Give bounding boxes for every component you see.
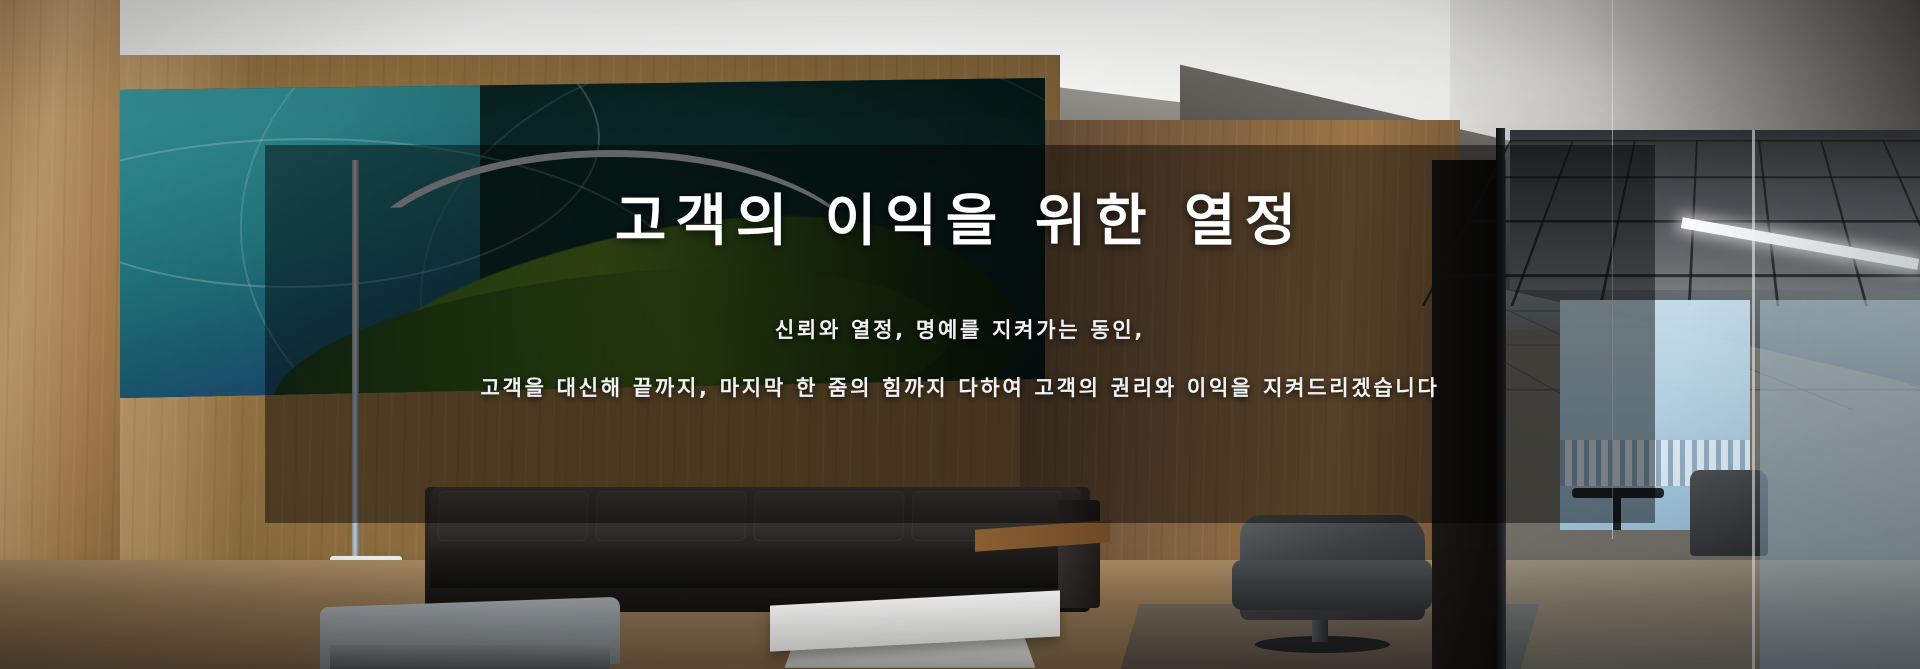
hero-headline: 고객의 이익을 위한 열정 xyxy=(615,187,1305,257)
hero-text-overlay: 고객의 이익을 위한 열정 신뢰와 열정, 명예를 지켜가는 동인, 고객을 대… xyxy=(265,145,1655,523)
hero-banner: 고객의 이익을 위한 열정 신뢰와 열정, 명예를 지켜가는 동인, 고객을 대… xyxy=(0,0,1920,669)
swivel-armchair-arm xyxy=(1232,560,1432,610)
sofa-seat xyxy=(430,548,1080,588)
hero-subtitle-line-1: 신뢰와 열정, 명예를 지켜가는 동인, xyxy=(775,315,1145,347)
front-lounge-chair-seat xyxy=(330,645,610,669)
glass-panel-divider xyxy=(1752,130,1755,669)
hero-subtitle-line-2: 고객을 대신해 끝까지, 마지막 한 줌의 힘까지 다하여 고객의 권리와 이익… xyxy=(480,373,1439,405)
far-chair xyxy=(1690,470,1768,556)
hero-subtitle-block: 신뢰와 열정, 명예를 지켜가는 동인, 고객을 대신해 끝까지, 마지막 한 … xyxy=(480,315,1439,404)
glass-panel-right xyxy=(1760,300,1920,669)
